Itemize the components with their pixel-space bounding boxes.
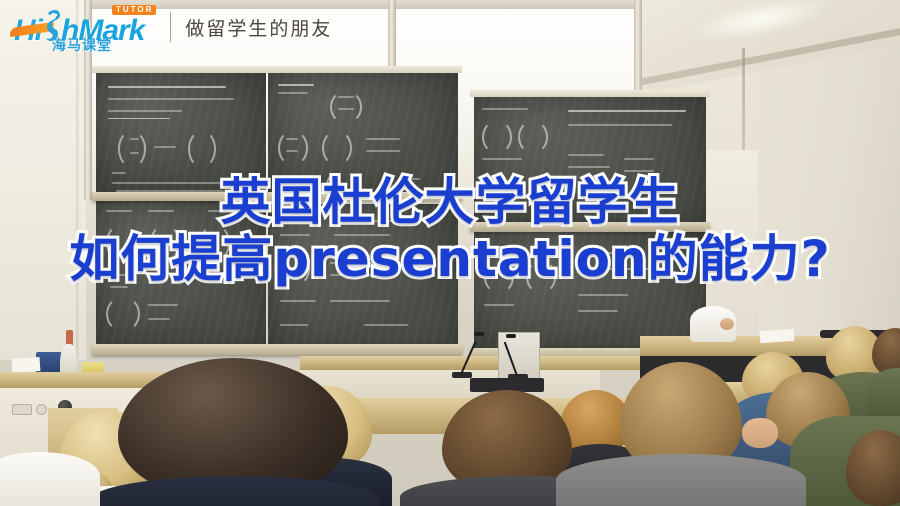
logo-chinese-name: 海马课堂: [52, 38, 112, 52]
microphone-head: [474, 332, 484, 336]
chalk-ledge-lower: [92, 344, 462, 355]
student-darkhair-bottom-right: [846, 430, 900, 506]
student-hand-on-chin: [742, 418, 782, 458]
student-foreground-left-shoulder: [0, 452, 100, 506]
lectern-top: [300, 356, 640, 370]
tutor-badge: TUTOR: [112, 5, 156, 15]
microphone-base: [508, 374, 528, 380]
title-line-2: 如何提高presentation的能力?: [0, 233, 900, 286]
board-frame-top: [92, 66, 462, 73]
logo-divider: [170, 12, 171, 42]
paper-sheet: [12, 357, 41, 373]
brand-slogan: 做留学生的朋友: [185, 14, 332, 41]
power-outlet: [12, 404, 32, 415]
paper-on-bench: [760, 329, 795, 343]
title-line-1: 英国杜伦大学留学生: [0, 176, 900, 229]
brand-logo[interactable]: Hi h Mark TUTOR 海马课堂 做留学生的朋友: [14, 8, 332, 46]
board-frame-top-right: [470, 90, 710, 97]
power-outlet: [36, 404, 47, 415]
banner-title: 英国杜伦大学留学生 如何提高presentation的能力?: [0, 176, 900, 285]
microphone-head: [506, 334, 516, 338]
blind-rail: [396, 0, 636, 9]
student-dark-hair-front: [118, 358, 348, 506]
lecture-hall-banner: Hi h Mark TUTOR 海马课堂 做留学生的朋友 英国杜伦大学留学生 如…: [0, 0, 900, 506]
person-at-board: [690, 300, 736, 342]
logo-wordmark: Hi h Mark TUTOR 海马课堂: [14, 8, 144, 46]
